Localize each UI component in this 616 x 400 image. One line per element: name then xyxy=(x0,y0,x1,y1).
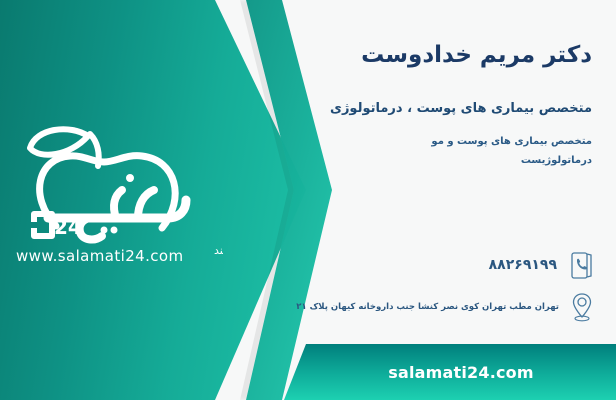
phone-row[interactable]: ۸۸۲۶۹۱۹۹ xyxy=(489,250,594,280)
clinic-address: تهران مطب تهران کوی نصر کنشا جنب داروخان… xyxy=(296,302,559,312)
phone-book-icon xyxy=(569,250,594,280)
doctor-specialty-sub-line-2: درماتولوژیست xyxy=(521,155,592,166)
logo-tagline: براحتی یک لبخند xyxy=(214,244,223,257)
doctor-name: دکتر مریم خدادوست xyxy=(361,42,592,68)
phone-number: ۸۸۲۶۹۱۹۹ xyxy=(489,257,557,273)
business-card: 24 براحتی یک لبخند www.salamati24.com دک… xyxy=(0,0,616,400)
bottom-banner[interactable]: salamati24.com xyxy=(306,344,616,400)
logo-website-url: www.salamati24.com xyxy=(16,247,184,265)
doctor-specialty-sub-line-1: متخصص بیماری های پوست و مو xyxy=(431,136,592,147)
svg-text:24: 24 xyxy=(54,215,82,239)
banner-site-label: salamati24.com xyxy=(388,363,534,382)
logo-badge-24: 24 xyxy=(34,214,82,239)
map-pin-icon xyxy=(569,292,594,322)
doctor-specialty-main: متخصص بیماری های پوست ، درماتولوژی xyxy=(330,101,592,116)
address-row[interactable]: تهران مطب تهران کوی نصر کنشا جنب داروخان… xyxy=(296,292,594,322)
